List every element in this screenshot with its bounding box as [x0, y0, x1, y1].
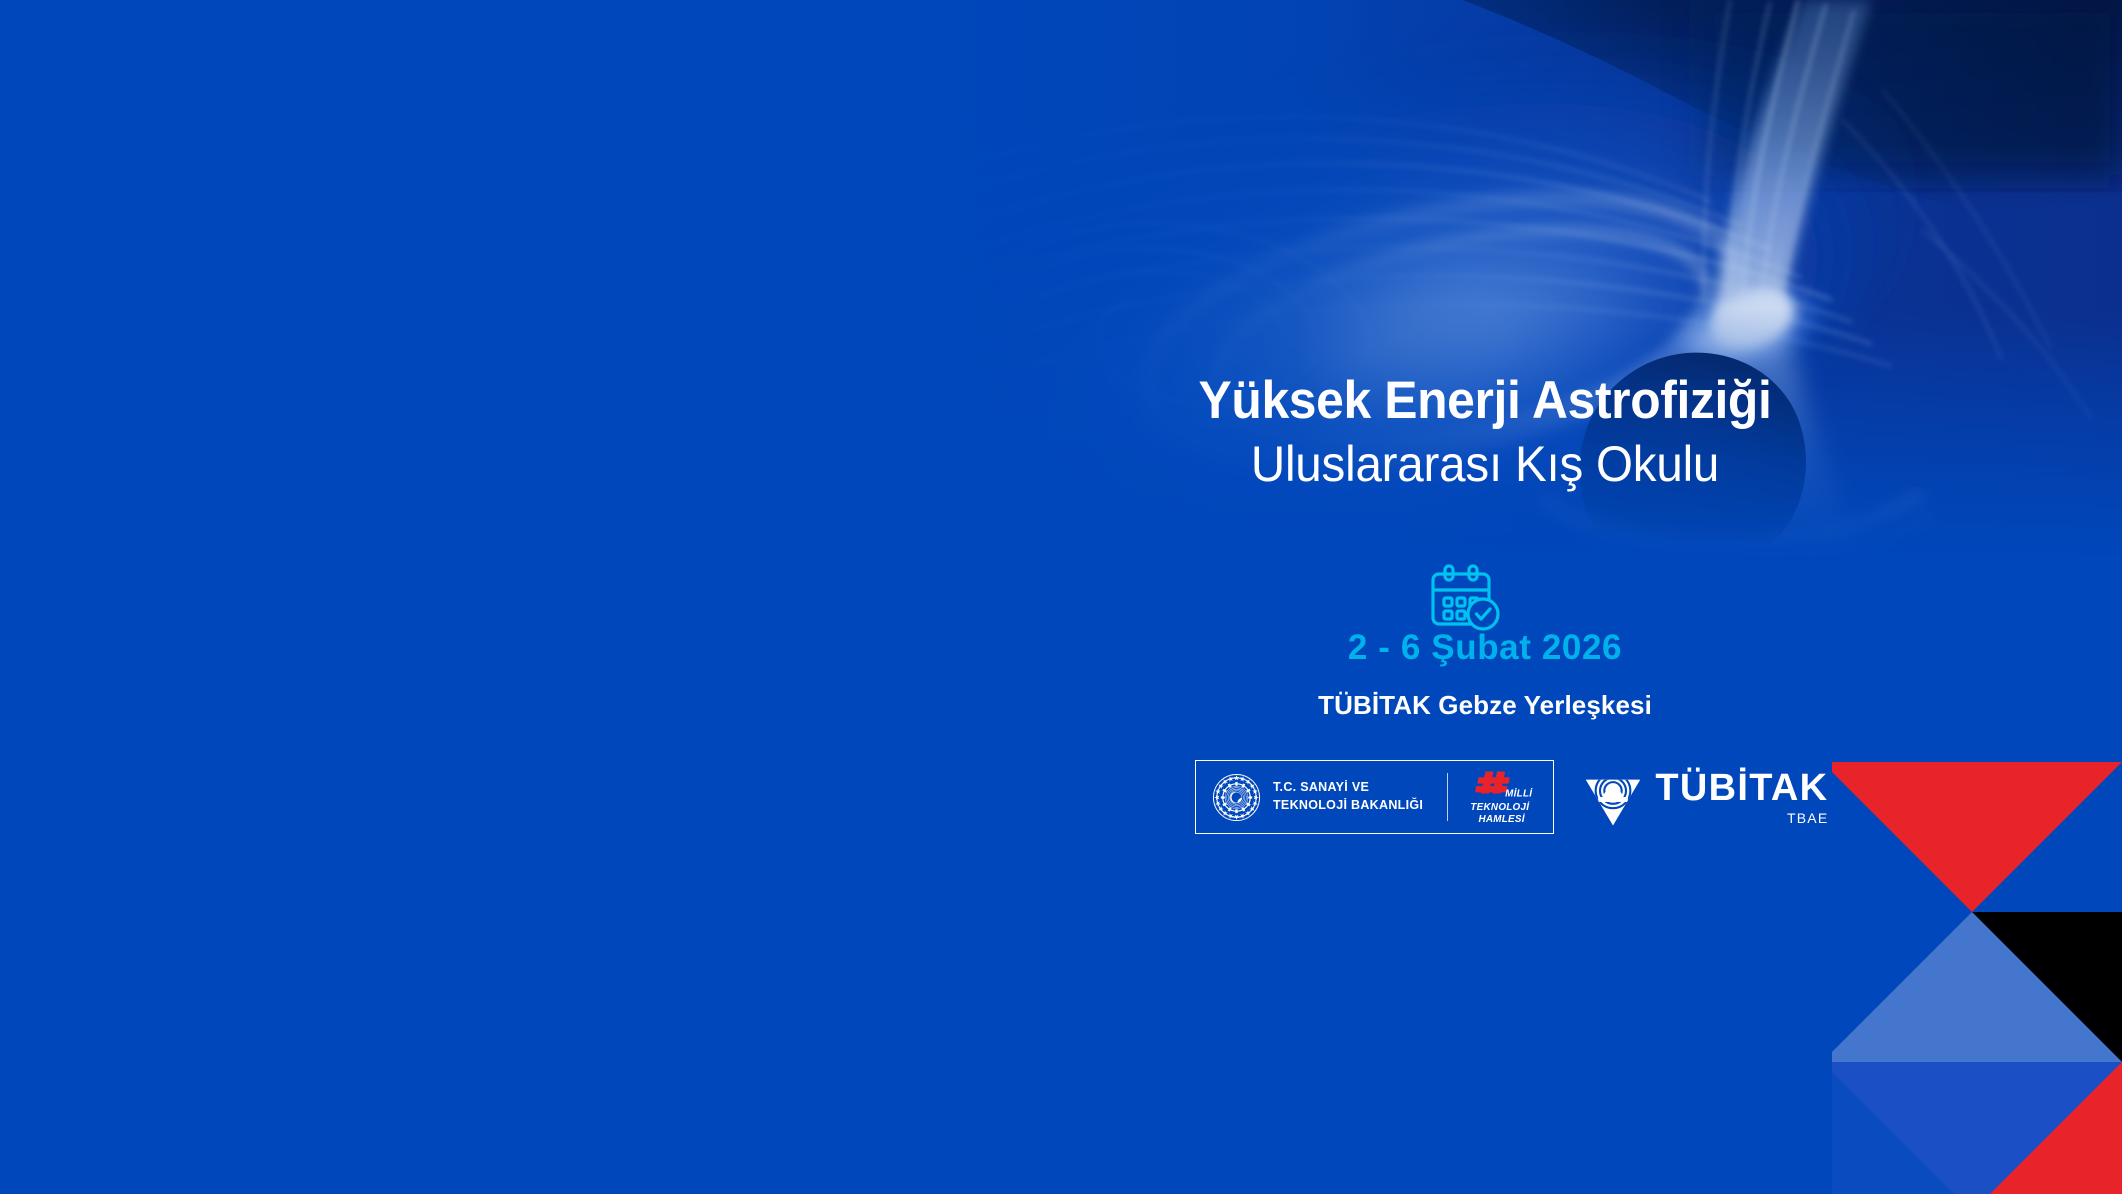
- logos-row: T.C. SANAYİ VE TEKNOLOJİ BAKANLIĞI MİLLİ…: [1195, 760, 1828, 834]
- tubitak-sub: TBAE: [1787, 811, 1828, 825]
- tubitak-triangle-mark-icon: [1582, 766, 1644, 828]
- turkish-ministry-seal-icon: [1212, 773, 1261, 822]
- corner-triangle-pattern-svg: [1832, 714, 2122, 1194]
- title-line-1: Yüksek Enerji Astrofiziği: [1184, 374, 1786, 428]
- title-line-2: Uluslararası Kış Okulu: [1181, 438, 1789, 490]
- light-blue-triangle: [1832, 912, 2122, 1062]
- lower-left-blue-wedge: [1832, 1062, 1972, 1194]
- milli-word: MİLLİ: [1506, 788, 1534, 799]
- red-triangle-bottom: [1972, 1062, 2122, 1194]
- corner-triangle-pattern: [1832, 714, 2122, 1194]
- event-date: 2 - 6 Şubat 2026: [1165, 628, 1805, 668]
- logo-divider: [1447, 773, 1448, 821]
- black-triangle: [1972, 912, 2122, 1062]
- calendar-check-icon-svg: [1425, 562, 1505, 634]
- teknoloji-word: TEKNOLOJİ: [1471, 802, 1531, 813]
- ministry-name: T.C. SANAYİ VE TEKNOLOJİ BAKANLIĞI: [1273, 779, 1423, 815]
- event-title: Yüksek Enerji Astrofiziği Uluslararası K…: [1165, 374, 1805, 490]
- red-triangle-top: [1832, 762, 2122, 912]
- milli-teknoloji-hamlesi-logo: MİLLİ TEKNOLOJİ HAMLESİ: [1469, 768, 1539, 826]
- calendar-check-icon: [1425, 562, 1505, 634]
- tubitak-logo-block: TÜBİTAK TBAE: [1582, 766, 1828, 828]
- ministry-name-line-2: TEKNOLOJİ BAKANLIĞI: [1273, 797, 1423, 815]
- event-venue: TÜBİTAK Gebze Yerleşkesi: [1165, 690, 1805, 721]
- tubitak-name: TÜBİTAK: [1655, 769, 1828, 807]
- medium-blue-triangle: [1832, 1062, 2122, 1194]
- poster-canvas: Yüksek Enerji Astrofiziği Uluslararası K…: [0, 0, 2122, 1194]
- hamlesi-word: HAMLESİ: [1479, 814, 1526, 825]
- tubitak-wordmark: TÜBİTAK TBAE: [1655, 769, 1828, 825]
- ministry-name-line-1: T.C. SANAYİ VE: [1273, 779, 1423, 797]
- hashtag-icon: [1475, 771, 1510, 793]
- ministry-logo-block: T.C. SANAYİ VE TEKNOLOJİ BAKANLIĞI MİLLİ…: [1195, 760, 1554, 834]
